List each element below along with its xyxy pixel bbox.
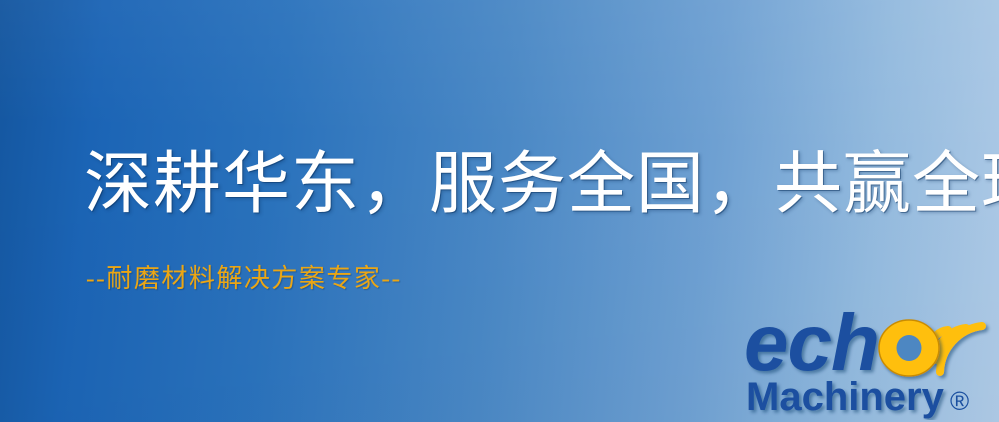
logo-svg: echo Machinery ®: [744, 292, 996, 420]
logo-wordmark-gold-o: [879, 320, 939, 376]
hero-banner: 深耕华东，服务全国，共赢全球 --耐磨材料解决方案专家-- echo: [0, 0, 999, 422]
registered-trademark-mark: ®: [950, 386, 969, 416]
logo-tagline: Machinery: [746, 375, 945, 419]
echo-machinery-logo[interactable]: echo Machinery ®: [744, 292, 996, 420]
banner-headline: 深耕华东，服务全国，共赢全球: [84, 150, 999, 218]
banner-subtitle: --耐磨材料解决方案专家--: [86, 266, 402, 292]
